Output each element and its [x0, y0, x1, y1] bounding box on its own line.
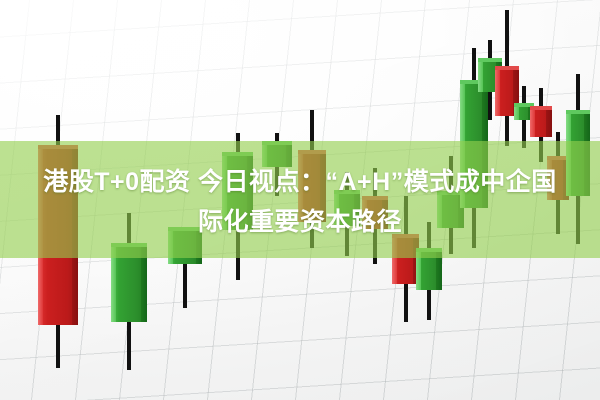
headline-line-1: 港股T+0配资 今日视点：“A+H”模式成中企国	[0, 162, 600, 202]
headline-line-2: 际化重要资本路径	[0, 202, 600, 242]
candlestick-body	[530, 106, 552, 137]
promo-banner-image: 港股T+0配资 今日视点：“A+H”模式成中企国 际化重要资本路径	[0, 0, 600, 400]
